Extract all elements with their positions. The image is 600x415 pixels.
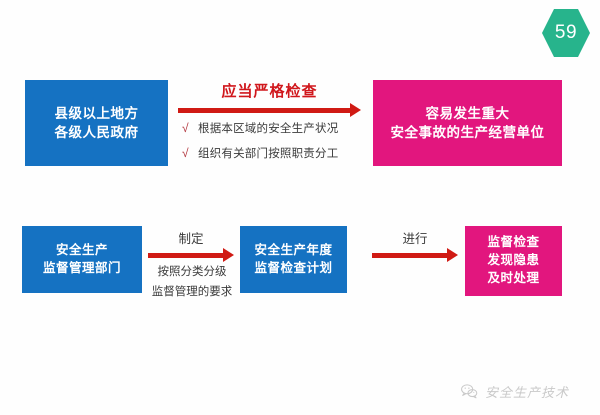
list-item-label: 根据本区域的安全生产状况 bbox=[198, 120, 338, 136]
slide-canvas: 59 县级以上地方 各级人民政府 应当严格检查 √ 根据本区域的安全生产状况 √… bbox=[0, 0, 600, 415]
arrow-head-icon bbox=[447, 248, 458, 262]
arrow-label-carry-out: 进行 bbox=[372, 228, 458, 247]
box-line: 县级以上地方 bbox=[55, 104, 139, 123]
arrow-head-icon bbox=[350, 103, 361, 117]
arrow-shaft bbox=[148, 253, 223, 258]
check-icon: √ bbox=[182, 146, 198, 160]
page-number-badge: 59 bbox=[542, 8, 590, 58]
arrow-shaft bbox=[178, 108, 350, 113]
bullet-list-row1: √ 根据本区域的安全生产状况 √ 组织有关部门按照职责分工 bbox=[182, 120, 372, 170]
list-item: √ 组织有关部门按照职责分工 bbox=[182, 145, 372, 161]
box-line: 安全生产 bbox=[56, 242, 108, 260]
box-line: 安全事故的生产经营单位 bbox=[391, 123, 545, 142]
box-local-government: 县级以上地方 各级人民政府 bbox=[25, 80, 168, 166]
arrow-shaft bbox=[372, 253, 447, 258]
box-line: 安全生产年度 bbox=[254, 242, 332, 260]
note-line: 按照分类分级 bbox=[142, 262, 242, 282]
box-line: 及时处理 bbox=[487, 270, 539, 288]
box-annual-inspection-plan: 安全生产年度 监督检查计划 bbox=[240, 226, 347, 293]
arrow-note-row2: 按照分类分级 监督管理的要求 bbox=[142, 262, 242, 302]
watermark: 安全生产技术 bbox=[460, 382, 569, 401]
wechat-icon bbox=[460, 382, 479, 401]
box-line: 监督检查计划 bbox=[254, 260, 332, 278]
page-number-text: 59 bbox=[542, 8, 590, 58]
note-line: 监督管理的要求 bbox=[142, 282, 242, 302]
box-line: 监督检查 bbox=[487, 234, 539, 252]
arrow-label-strict-inspection: 应当严格检查 bbox=[178, 80, 361, 101]
arrow-head-icon bbox=[223, 248, 234, 262]
check-icon: √ bbox=[182, 121, 198, 135]
watermark-text: 安全生产技术 bbox=[485, 382, 569, 401]
arrow-row2-second bbox=[372, 248, 458, 262]
box-supervision-department: 安全生产 监督管理部门 bbox=[22, 226, 142, 293]
arrow-label-formulate: 制定 bbox=[148, 228, 234, 247]
box-line: 发现隐患 bbox=[487, 252, 539, 270]
arrow-row2-first bbox=[148, 248, 234, 262]
box-inspection-outcome: 监督检查 发现隐患 及时处理 bbox=[465, 226, 562, 296]
list-item-label: 组织有关部门按照职责分工 bbox=[198, 145, 338, 161]
box-line: 容易发生重大 bbox=[426, 104, 510, 123]
list-item: √ 根据本区域的安全生产状况 bbox=[182, 120, 372, 136]
box-line: 监督管理部门 bbox=[43, 260, 121, 278]
box-line: 各级人民政府 bbox=[55, 123, 139, 142]
box-high-risk-enterprise: 容易发生重大 安全事故的生产经营单位 bbox=[373, 80, 562, 166]
arrow-row1 bbox=[178, 103, 361, 117]
